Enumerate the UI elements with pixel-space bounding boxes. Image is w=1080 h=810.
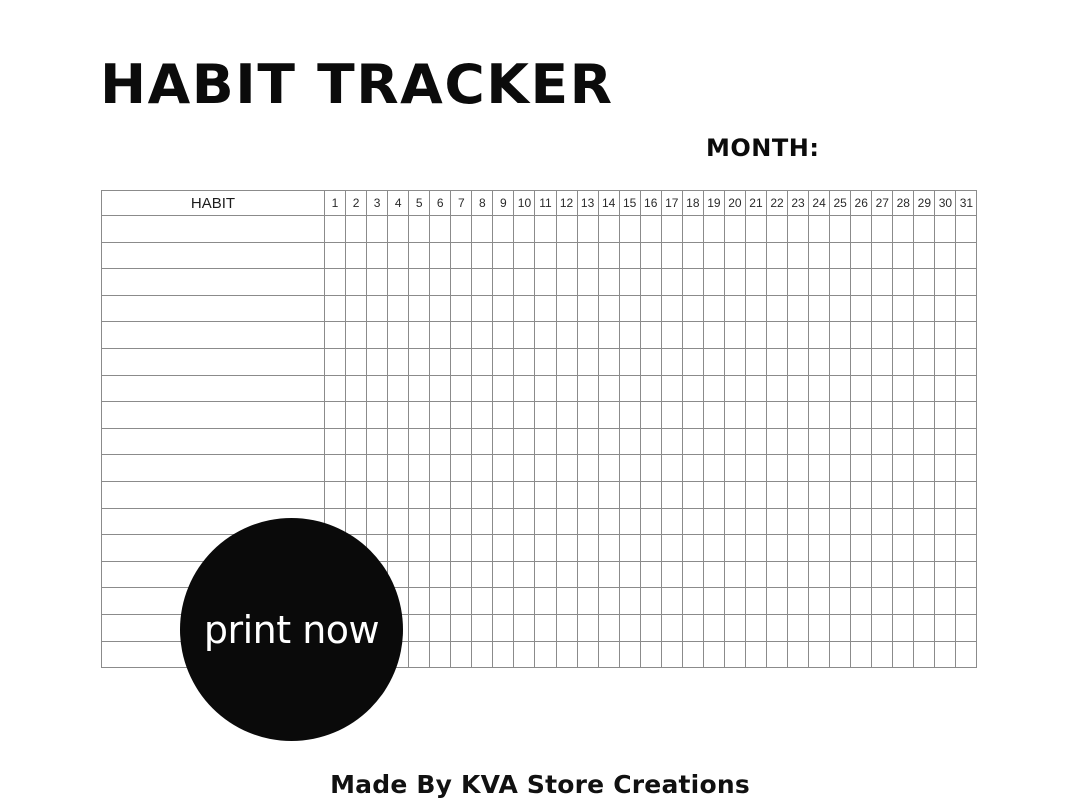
habit-day-cell[interactable] — [809, 535, 830, 562]
habit-day-cell[interactable] — [451, 242, 472, 269]
habit-day-cell[interactable] — [830, 242, 851, 269]
habit-day-cell[interactable] — [367, 402, 388, 429]
habit-day-cell[interactable] — [956, 641, 977, 668]
habit-day-cell[interactable] — [745, 588, 766, 615]
habit-day-cell[interactable] — [788, 269, 809, 296]
habit-day-cell[interactable] — [451, 216, 472, 243]
habit-day-cell[interactable] — [577, 295, 598, 322]
habit-day-cell[interactable] — [872, 481, 893, 508]
habit-day-cell[interactable] — [514, 242, 535, 269]
habit-day-cell[interactable] — [851, 402, 872, 429]
habit-day-cell[interactable] — [682, 269, 703, 296]
habit-day-cell[interactable] — [640, 508, 661, 535]
habit-day-cell[interactable] — [430, 269, 451, 296]
habit-day-cell[interactable] — [367, 295, 388, 322]
habit-day-cell[interactable] — [493, 348, 514, 375]
habit-day-cell[interactable] — [788, 614, 809, 641]
habit-day-cell[interactable] — [766, 455, 787, 482]
habit-day-cell[interactable] — [535, 322, 556, 349]
habit-day-cell[interactable] — [872, 428, 893, 455]
habit-day-cell[interactable] — [724, 588, 745, 615]
habit-day-cell[interactable] — [346, 375, 367, 402]
habit-day-cell[interactable] — [682, 561, 703, 588]
habit-day-cell[interactable] — [493, 561, 514, 588]
habit-day-cell[interactable] — [703, 561, 724, 588]
habit-day-cell[interactable] — [598, 348, 619, 375]
habit-day-cell[interactable] — [409, 455, 430, 482]
habit-day-cell[interactable] — [703, 375, 724, 402]
habit-day-cell[interactable] — [346, 242, 367, 269]
habit-day-cell[interactable] — [788, 428, 809, 455]
habit-day-cell[interactable] — [872, 641, 893, 668]
habit-day-cell[interactable] — [872, 455, 893, 482]
habit-day-cell[interactable] — [346, 322, 367, 349]
habit-day-cell[interactable] — [935, 348, 956, 375]
habit-day-cell[interactable] — [640, 375, 661, 402]
habit-day-cell[interactable] — [346, 402, 367, 429]
habit-day-cell[interactable] — [809, 348, 830, 375]
habit-day-cell[interactable] — [914, 375, 935, 402]
habit-day-cell[interactable] — [430, 508, 451, 535]
habit-day-cell[interactable] — [472, 242, 493, 269]
habit-day-cell[interactable] — [830, 535, 851, 562]
habit-day-cell[interactable] — [914, 348, 935, 375]
habit-day-cell[interactable] — [724, 242, 745, 269]
habit-day-cell[interactable] — [788, 508, 809, 535]
habit-day-cell[interactable] — [745, 402, 766, 429]
habit-day-cell[interactable] — [388, 375, 409, 402]
habit-day-cell[interactable] — [367, 375, 388, 402]
habit-day-cell[interactable] — [430, 322, 451, 349]
habit-day-cell[interactable] — [472, 508, 493, 535]
habit-day-cell[interactable] — [661, 641, 682, 668]
habit-day-cell[interactable] — [472, 269, 493, 296]
habit-day-cell[interactable] — [367, 508, 388, 535]
habit-day-cell[interactable] — [472, 295, 493, 322]
habit-day-cell[interactable] — [535, 588, 556, 615]
habit-day-cell[interactable] — [745, 614, 766, 641]
habit-name-cell[interactable] — [102, 348, 325, 375]
habit-day-cell[interactable] — [956, 375, 977, 402]
habit-day-cell[interactable] — [893, 535, 914, 562]
habit-day-cell[interactable] — [409, 375, 430, 402]
habit-day-cell[interactable] — [325, 242, 346, 269]
habit-day-cell[interactable] — [935, 535, 956, 562]
habit-day-cell[interactable] — [703, 402, 724, 429]
habit-day-cell[interactable] — [514, 481, 535, 508]
habit-day-cell[interactable] — [893, 402, 914, 429]
habit-day-cell[interactable] — [346, 216, 367, 243]
habit-day-cell[interactable] — [809, 508, 830, 535]
habit-day-cell[interactable] — [935, 322, 956, 349]
habit-day-cell[interactable] — [830, 588, 851, 615]
habit-day-cell[interactable] — [451, 588, 472, 615]
habit-day-cell[interactable] — [788, 375, 809, 402]
habit-day-cell[interactable] — [935, 588, 956, 615]
habit-day-cell[interactable] — [346, 508, 367, 535]
habit-day-cell[interactable] — [430, 535, 451, 562]
habit-day-cell[interactable] — [830, 269, 851, 296]
habit-day-cell[interactable] — [766, 588, 787, 615]
habit-day-cell[interactable] — [367, 428, 388, 455]
habit-day-cell[interactable] — [430, 402, 451, 429]
habit-day-cell[interactable] — [346, 481, 367, 508]
habit-day-cell[interactable] — [409, 242, 430, 269]
habit-day-cell[interactable] — [598, 428, 619, 455]
habit-day-cell[interactable] — [703, 216, 724, 243]
habit-day-cell[interactable] — [682, 614, 703, 641]
habit-day-cell[interactable] — [577, 455, 598, 482]
habit-day-cell[interactable] — [745, 641, 766, 668]
habit-day-cell[interactable] — [661, 269, 682, 296]
habit-name-cell[interactable] — [102, 242, 325, 269]
habit-day-cell[interactable] — [872, 588, 893, 615]
habit-day-cell[interactable] — [472, 588, 493, 615]
habit-day-cell[interactable] — [514, 508, 535, 535]
habit-day-cell[interactable] — [493, 588, 514, 615]
habit-day-cell[interactable] — [745, 481, 766, 508]
habit-day-cell[interactable] — [766, 561, 787, 588]
habit-day-cell[interactable] — [872, 322, 893, 349]
habit-day-cell[interactable] — [809, 641, 830, 668]
habit-day-cell[interactable] — [388, 348, 409, 375]
habit-day-cell[interactable] — [893, 428, 914, 455]
habit-day-cell[interactable] — [956, 242, 977, 269]
habit-day-cell[interactable] — [872, 216, 893, 243]
habit-day-cell[interactable] — [893, 269, 914, 296]
habit-day-cell[interactable] — [640, 242, 661, 269]
habit-day-cell[interactable] — [788, 402, 809, 429]
habit-day-cell[interactable] — [514, 614, 535, 641]
habit-day-cell[interactable] — [682, 508, 703, 535]
habit-day-cell[interactable] — [535, 402, 556, 429]
habit-day-cell[interactable] — [598, 641, 619, 668]
habit-day-cell[interactable] — [388, 481, 409, 508]
habit-day-cell[interactable] — [556, 588, 577, 615]
habit-day-cell[interactable] — [914, 455, 935, 482]
habit-day-cell[interactable] — [514, 322, 535, 349]
habit-day-cell[interactable] — [788, 561, 809, 588]
habit-day-cell[interactable] — [703, 535, 724, 562]
habit-day-cell[interactable] — [935, 641, 956, 668]
habit-day-cell[interactable] — [914, 561, 935, 588]
habit-day-cell[interactable] — [556, 348, 577, 375]
habit-day-cell[interactable] — [682, 295, 703, 322]
habit-day-cell[interactable] — [745, 375, 766, 402]
habit-day-cell[interactable] — [851, 322, 872, 349]
habit-day-cell[interactable] — [367, 322, 388, 349]
habit-day-cell[interactable] — [682, 455, 703, 482]
habit-day-cell[interactable] — [409, 348, 430, 375]
habit-day-cell[interactable] — [535, 481, 556, 508]
habit-day-cell[interactable] — [493, 402, 514, 429]
habit-day-cell[interactable] — [766, 295, 787, 322]
habit-day-cell[interactable] — [851, 455, 872, 482]
habit-day-cell[interactable] — [703, 508, 724, 535]
habit-day-cell[interactable] — [451, 428, 472, 455]
habit-day-cell[interactable] — [598, 269, 619, 296]
habit-day-cell[interactable] — [809, 269, 830, 296]
habit-day-cell[interactable] — [809, 295, 830, 322]
habit-day-cell[interactable] — [451, 508, 472, 535]
habit-day-cell[interactable] — [724, 322, 745, 349]
habit-name-cell[interactable] — [102, 455, 325, 482]
habit-day-cell[interactable] — [935, 269, 956, 296]
habit-day-cell[interactable] — [577, 428, 598, 455]
habit-day-cell[interactable] — [724, 428, 745, 455]
habit-day-cell[interactable] — [724, 535, 745, 562]
habit-day-cell[interactable] — [598, 508, 619, 535]
habit-day-cell[interactable] — [472, 481, 493, 508]
habit-day-cell[interactable] — [766, 375, 787, 402]
habit-day-cell[interactable] — [535, 348, 556, 375]
habit-day-cell[interactable] — [451, 322, 472, 349]
habit-day-cell[interactable] — [493, 481, 514, 508]
habit-day-cell[interactable] — [535, 216, 556, 243]
habit-day-cell[interactable] — [745, 561, 766, 588]
habit-day-cell[interactable] — [661, 375, 682, 402]
habit-day-cell[interactable] — [598, 402, 619, 429]
habit-day-cell[interactable] — [493, 455, 514, 482]
habit-day-cell[interactable] — [914, 242, 935, 269]
habit-day-cell[interactable] — [409, 535, 430, 562]
habit-day-cell[interactable] — [451, 375, 472, 402]
habit-day-cell[interactable] — [493, 508, 514, 535]
habit-name-cell[interactable] — [102, 402, 325, 429]
habit-day-cell[interactable] — [640, 348, 661, 375]
habit-day-cell[interactable] — [893, 641, 914, 668]
habit-day-cell[interactable] — [661, 481, 682, 508]
habit-day-cell[interactable] — [367, 348, 388, 375]
habit-day-cell[interactable] — [703, 428, 724, 455]
habit-day-cell[interactable] — [851, 641, 872, 668]
habit-day-cell[interactable] — [430, 561, 451, 588]
habit-day-cell[interactable] — [556, 242, 577, 269]
habit-day-cell[interactable] — [724, 508, 745, 535]
habit-day-cell[interactable] — [809, 455, 830, 482]
habit-day-cell[interactable] — [367, 269, 388, 296]
habit-day-cell[interactable] — [514, 588, 535, 615]
habit-day-cell[interactable] — [640, 561, 661, 588]
habit-day-cell[interactable] — [577, 481, 598, 508]
habit-day-cell[interactable] — [766, 428, 787, 455]
habit-name-cell[interactable] — [102, 269, 325, 296]
habit-day-cell[interactable] — [619, 402, 640, 429]
habit-day-cell[interactable] — [577, 561, 598, 588]
habit-day-cell[interactable] — [451, 295, 472, 322]
habit-day-cell[interactable] — [809, 614, 830, 641]
habit-day-cell[interactable] — [388, 535, 409, 562]
habit-day-cell[interactable] — [493, 295, 514, 322]
habit-day-cell[interactable] — [745, 535, 766, 562]
habit-day-cell[interactable] — [388, 455, 409, 482]
habit-day-cell[interactable] — [830, 402, 851, 429]
habit-day-cell[interactable] — [830, 455, 851, 482]
habit-day-cell[interactable] — [956, 402, 977, 429]
habit-day-cell[interactable] — [556, 216, 577, 243]
habit-day-cell[interactable] — [409, 481, 430, 508]
habit-day-cell[interactable] — [514, 295, 535, 322]
habit-day-cell[interactable] — [745, 348, 766, 375]
habit-day-cell[interactable] — [619, 216, 640, 243]
habit-day-cell[interactable] — [430, 588, 451, 615]
habit-day-cell[interactable] — [346, 348, 367, 375]
habit-day-cell[interactable] — [514, 561, 535, 588]
habit-day-cell[interactable] — [788, 295, 809, 322]
habit-day-cell[interactable] — [809, 216, 830, 243]
habit-day-cell[interactable] — [325, 216, 346, 243]
habit-day-cell[interactable] — [766, 322, 787, 349]
habit-day-cell[interactable] — [851, 269, 872, 296]
habit-day-cell[interactable] — [872, 375, 893, 402]
habit-day-cell[interactable] — [514, 402, 535, 429]
habit-day-cell[interactable] — [766, 348, 787, 375]
habit-day-cell[interactable] — [535, 641, 556, 668]
habit-day-cell[interactable] — [956, 481, 977, 508]
habit-day-cell[interactable] — [893, 481, 914, 508]
habit-day-cell[interactable] — [872, 561, 893, 588]
habit-day-cell[interactable] — [745, 322, 766, 349]
habit-day-cell[interactable] — [724, 216, 745, 243]
habit-day-cell[interactable] — [766, 402, 787, 429]
habit-day-cell[interactable] — [745, 455, 766, 482]
habit-day-cell[interactable] — [830, 348, 851, 375]
habit-day-cell[interactable] — [409, 428, 430, 455]
habit-day-cell[interactable] — [430, 295, 451, 322]
habit-day-cell[interactable] — [745, 428, 766, 455]
habit-day-cell[interactable] — [724, 269, 745, 296]
habit-day-cell[interactable] — [472, 216, 493, 243]
habit-day-cell[interactable] — [956, 269, 977, 296]
habit-day-cell[interactable] — [409, 295, 430, 322]
habit-day-cell[interactable] — [956, 428, 977, 455]
habit-day-cell[interactable] — [619, 348, 640, 375]
habit-day-cell[interactable] — [493, 216, 514, 243]
habit-day-cell[interactable] — [451, 641, 472, 668]
habit-day-cell[interactable] — [325, 455, 346, 482]
habit-day-cell[interactable] — [409, 508, 430, 535]
habit-day-cell[interactable] — [703, 322, 724, 349]
habit-day-cell[interactable] — [493, 322, 514, 349]
habit-day-cell[interactable] — [325, 481, 346, 508]
habit-day-cell[interactable] — [682, 216, 703, 243]
habit-day-cell[interactable] — [577, 614, 598, 641]
habit-day-cell[interactable] — [914, 481, 935, 508]
habit-day-cell[interactable] — [872, 508, 893, 535]
habit-day-cell[interactable] — [724, 614, 745, 641]
habit-day-cell[interactable] — [745, 242, 766, 269]
habit-day-cell[interactable] — [788, 322, 809, 349]
habit-day-cell[interactable] — [703, 588, 724, 615]
habit-name-cell[interactable] — [102, 428, 325, 455]
habit-day-cell[interactable] — [535, 561, 556, 588]
habit-day-cell[interactable] — [914, 295, 935, 322]
habit-day-cell[interactable] — [935, 216, 956, 243]
habit-day-cell[interactable] — [830, 481, 851, 508]
habit-day-cell[interactable] — [724, 481, 745, 508]
habit-day-cell[interactable] — [956, 535, 977, 562]
habit-day-cell[interactable] — [367, 455, 388, 482]
habit-day-cell[interactable] — [893, 216, 914, 243]
habit-day-cell[interactable] — [556, 428, 577, 455]
habit-day-cell[interactable] — [830, 428, 851, 455]
habit-day-cell[interactable] — [788, 588, 809, 615]
habit-day-cell[interactable] — [556, 322, 577, 349]
habit-day-cell[interactable] — [851, 561, 872, 588]
habit-day-cell[interactable] — [914, 402, 935, 429]
habit-day-cell[interactable] — [914, 641, 935, 668]
habit-day-cell[interactable] — [388, 242, 409, 269]
habit-day-cell[interactable] — [851, 348, 872, 375]
habit-day-cell[interactable] — [956, 348, 977, 375]
habit-day-cell[interactable] — [745, 508, 766, 535]
habit-day-cell[interactable] — [703, 348, 724, 375]
habit-day-cell[interactable] — [956, 322, 977, 349]
habit-day-cell[interactable] — [682, 535, 703, 562]
habit-day-cell[interactable] — [325, 295, 346, 322]
habit-day-cell[interactable] — [409, 216, 430, 243]
habit-day-cell[interactable] — [766, 614, 787, 641]
habit-day-cell[interactable] — [851, 216, 872, 243]
habit-day-cell[interactable] — [556, 269, 577, 296]
habit-day-cell[interactable] — [409, 269, 430, 296]
habit-day-cell[interactable] — [535, 428, 556, 455]
habit-day-cell[interactable] — [724, 348, 745, 375]
print-now-badge[interactable]: print now — [180, 518, 403, 741]
habit-day-cell[interactable] — [956, 216, 977, 243]
habit-day-cell[interactable] — [346, 295, 367, 322]
habit-day-cell[interactable] — [598, 322, 619, 349]
habit-day-cell[interactable] — [788, 216, 809, 243]
habit-day-cell[interactable] — [619, 375, 640, 402]
habit-day-cell[interactable] — [956, 455, 977, 482]
habit-day-cell[interactable] — [472, 614, 493, 641]
habit-day-cell[interactable] — [935, 455, 956, 482]
habit-day-cell[interactable] — [430, 641, 451, 668]
habit-day-cell[interactable] — [472, 402, 493, 429]
habit-day-cell[interactable] — [724, 402, 745, 429]
habit-day-cell[interactable] — [409, 588, 430, 615]
habit-day-cell[interactable] — [493, 641, 514, 668]
habit-day-cell[interactable] — [493, 242, 514, 269]
habit-day-cell[interactable] — [640, 402, 661, 429]
habit-day-cell[interactable] — [577, 242, 598, 269]
habit-day-cell[interactable] — [935, 428, 956, 455]
habit-day-cell[interactable] — [535, 269, 556, 296]
habit-day-cell[interactable] — [577, 535, 598, 562]
habit-day-cell[interactable] — [724, 455, 745, 482]
habit-day-cell[interactable] — [724, 561, 745, 588]
habit-day-cell[interactable] — [514, 269, 535, 296]
habit-day-cell[interactable] — [830, 614, 851, 641]
habit-day-cell[interactable] — [556, 455, 577, 482]
habit-day-cell[interactable] — [451, 348, 472, 375]
habit-day-cell[interactable] — [956, 588, 977, 615]
habit-day-cell[interactable] — [493, 535, 514, 562]
habit-day-cell[interactable] — [809, 242, 830, 269]
habit-day-cell[interactable] — [514, 375, 535, 402]
habit-day-cell[interactable] — [556, 614, 577, 641]
habit-day-cell[interactable] — [556, 508, 577, 535]
habit-day-cell[interactable] — [430, 455, 451, 482]
habit-day-cell[interactable] — [598, 481, 619, 508]
habit-day-cell[interactable] — [451, 614, 472, 641]
habit-day-cell[interactable] — [809, 402, 830, 429]
habit-day-cell[interactable] — [640, 588, 661, 615]
habit-day-cell[interactable] — [766, 641, 787, 668]
habit-day-cell[interactable] — [598, 242, 619, 269]
habit-day-cell[interactable] — [325, 402, 346, 429]
